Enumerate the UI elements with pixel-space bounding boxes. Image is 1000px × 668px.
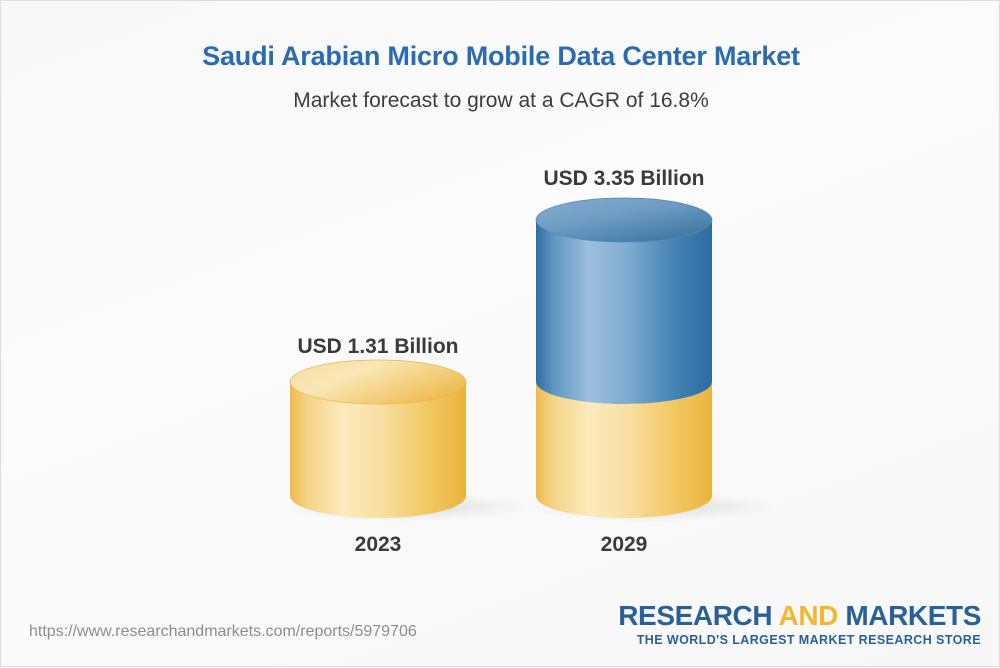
bar-2029-blue-segment [536,220,712,404]
logo-word-research: RESEARCH [618,600,778,631]
logo-word-markets: MARKETS [838,600,981,631]
bar-category-label-2029: 2029 [474,533,774,557]
research-and-markets-logo[interactable]: RESEARCH AND MARKETS THE WORLD'S LARGEST… [618,601,981,647]
source-url[interactable]: https://www.researchandmarkets.com/repor… [29,623,417,641]
logo-wordmark: RESEARCH AND MARKETS [618,601,981,630]
bar-2023[interactable] [290,360,466,518]
bar-2029-top-cap [536,198,712,242]
logo-word-and: AND [779,600,838,631]
bar-value-label-2023: USD 1.31 Billion [228,335,528,359]
bar-value-label-2029: USD 3.35 Billion [474,167,774,191]
bar-2023-top-cap [290,360,466,404]
bar-2029[interactable] [536,198,712,518]
logo-tagline: THE WORLD'S LARGEST MARKET RESEARCH STOR… [618,633,981,647]
chart-canvas: Saudi Arabian Micro Mobile Data Center M… [0,0,1000,667]
